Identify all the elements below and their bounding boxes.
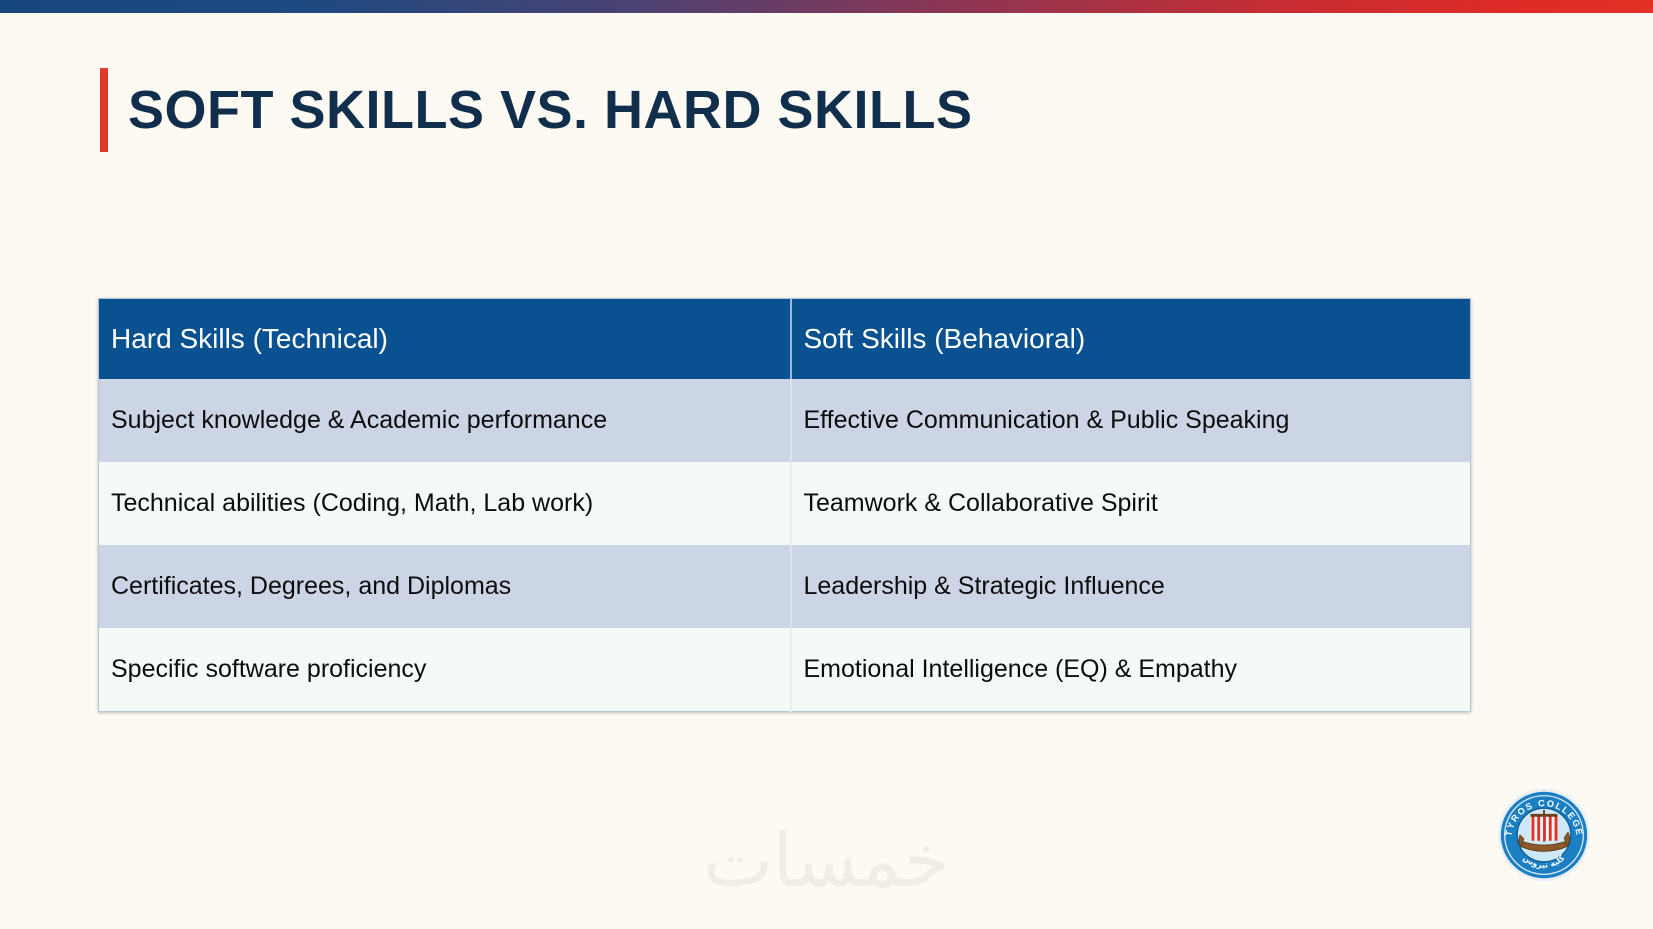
watermark-text: خمسات bbox=[0, 818, 1653, 904]
page-title: SOFT SKILLS VS. HARD SKILLS bbox=[128, 68, 973, 152]
cell-hard-skill: Specific software proficiency bbox=[99, 628, 791, 712]
page-title-block: SOFT SKILLS VS. HARD SKILLS bbox=[100, 68, 973, 152]
cell-soft-skill: Emotional Intelligence (EQ) & Empathy bbox=[791, 628, 1471, 712]
table-row: Subject knowledge & Academic performance… bbox=[99, 379, 1471, 462]
cell-soft-skill: Teamwork & Collaborative Spirit bbox=[791, 462, 1471, 545]
table-row: Certificates, Degrees, and Diplomas Lead… bbox=[99, 545, 1471, 628]
skills-comparison-table: Hard Skills (Technical) Soft Skills (Beh… bbox=[98, 298, 1471, 712]
table-row: Technical abilities (Coding, Math, Lab w… bbox=[99, 462, 1471, 545]
cell-hard-skill: Certificates, Degrees, and Diplomas bbox=[99, 545, 791, 628]
title-accent-bar bbox=[100, 68, 108, 152]
column-header-soft-skills: Soft Skills (Behavioral) bbox=[791, 299, 1471, 380]
cell-hard-skill: Subject knowledge & Academic performance bbox=[99, 379, 791, 462]
table-row: Specific software proficiency Emotional … bbox=[99, 628, 1471, 712]
cell-soft-skill: Effective Communication & Public Speakin… bbox=[791, 379, 1471, 462]
college-crest-icon: TYROS COLLEGE كلية تيروس bbox=[1496, 787, 1592, 883]
column-header-hard-skills: Hard Skills (Technical) bbox=[99, 299, 791, 380]
table-header-row: Hard Skills (Technical) Soft Skills (Beh… bbox=[99, 299, 1471, 380]
table-body: Subject knowledge & Academic performance… bbox=[99, 379, 1471, 712]
tyros-college-logo: TYROS COLLEGE كلية تيروس bbox=[1496, 787, 1592, 883]
table-header: Hard Skills (Technical) Soft Skills (Beh… bbox=[99, 299, 1471, 380]
cell-hard-skill: Technical abilities (Coding, Math, Lab w… bbox=[99, 462, 791, 545]
top-accent-bar bbox=[0, 0, 1653, 13]
cell-soft-skill: Leadership & Strategic Influence bbox=[791, 545, 1471, 628]
